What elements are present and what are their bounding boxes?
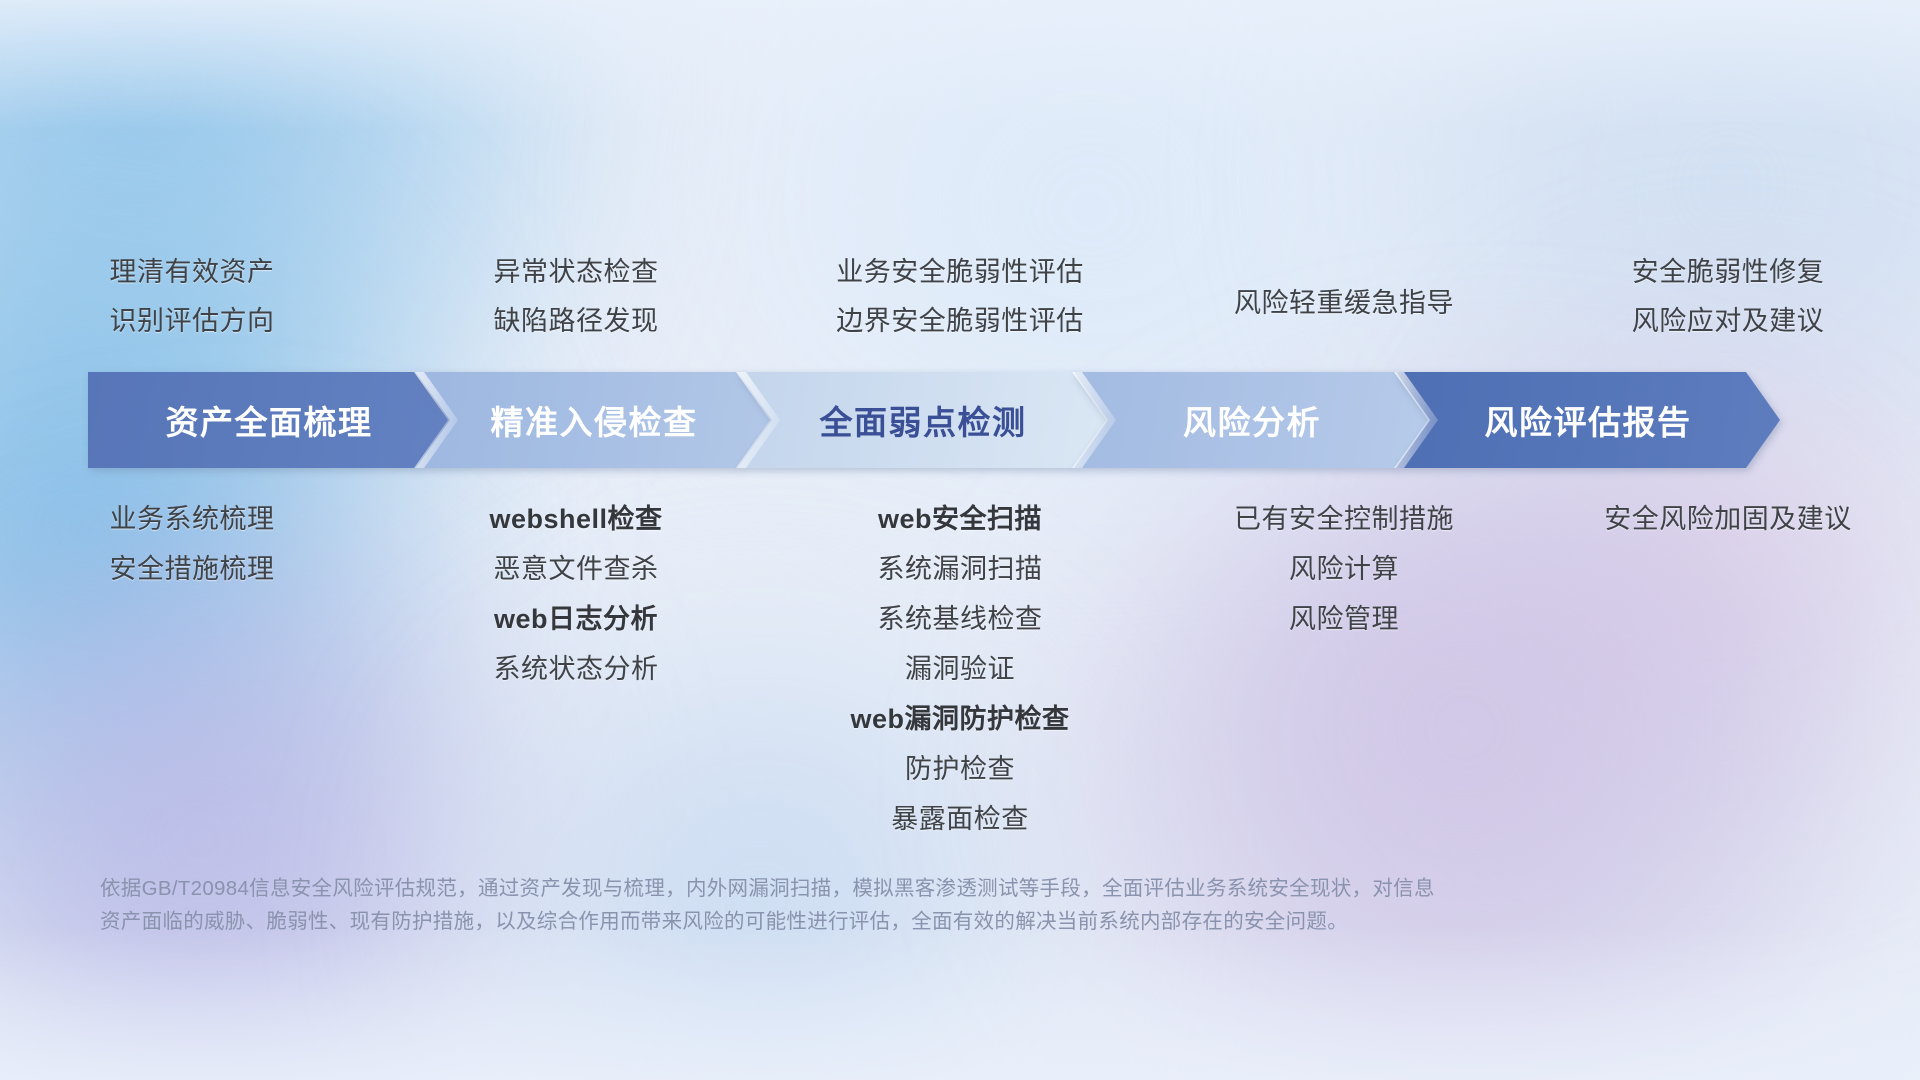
slide-canvas: 理清有效资产 识别评估方向 业务系统梳理 安全措施梳理 异常状态检查 缺陷路径发… [0,0,1920,1080]
list-item: 已有安全控制措施 [1234,503,1454,536]
process-step-risk-analysis[interactable]: 风险分析 [1074,372,1430,468]
process-step-asset-inventory[interactable]: 资产全面梳理 [88,372,450,468]
list-item: 理清有效资产 [110,256,275,289]
footer-line-2: 资产面临的威胁、脆弱性、现有防护措施，以及综合作用而带来风险的可能性进行评估，全… [100,905,1660,938]
process-step-label: 风险分析 [1183,396,1321,444]
step-4-top-list: 风险轻重缓急指导 [1152,287,1536,320]
list-item: 安全措施梳理 [110,553,275,586]
list-item: 安全脆弱性修复 [1632,256,1825,289]
list-item: 风险管理 [1289,603,1399,636]
footer-line-1: 依据GB/T20984信息安全风险评估规范，通过资产发现与梳理，内外网漏洞扫描，… [100,872,1660,905]
list-item: 防护检查 [905,753,1015,786]
step-4-bottom-list: 已有安全控制措施 风险计算 风险管理 [1152,503,1536,636]
list-item: web漏洞防护检查 [850,703,1069,736]
list-item: 识别评估方向 [110,305,275,338]
footer-description: 依据GB/T20984信息安全风险评估规范，通过资产发现与梳理，内外网漏洞扫描，… [100,872,1660,938]
step-5-top-list: 安全脆弱性修复 风险应对及建议 [1536,256,1920,338]
process-chevron-band: 资产全面梳理 精准入侵检查 全面弱点检测 风险分析 风险评估报告 [88,372,1848,468]
process-step-intrusion-check[interactable]: 精准入侵检查 [416,372,772,468]
list-item: 业务安全脆弱性评估 [836,256,1084,289]
step-1-top-list: 理清有效资产 识别评估方向 [0,256,384,338]
list-item: 风险轻重缓急指导 [1234,287,1454,320]
process-step-label: 资产全面梳理 [166,396,373,444]
list-item: 暴露面检查 [891,803,1029,836]
step-2-bottom-list: webshell检查 恶意文件查杀 web日志分析 系统状态分析 [384,503,768,686]
process-step-label: 全面弱点检测 [820,396,1027,444]
list-item: 边界安全脆弱性评估 [836,305,1084,338]
list-item: 缺陷路径发现 [494,305,659,338]
list-item: 异常状态检查 [494,256,659,289]
list-item: 恶意文件查杀 [494,553,659,586]
step-5-bottom-list: 安全风险加固及建议 [1536,503,1920,536]
list-item: web安全扫描 [878,503,1042,536]
list-item: 风险计算 [1289,553,1399,586]
step-3-top-list: 业务安全脆弱性评估 边界安全脆弱性评估 [768,256,1152,338]
process-step-label: 精准入侵检查 [491,396,698,444]
list-item: 安全风险加固及建议 [1604,503,1852,536]
list-item: web日志分析 [494,603,658,636]
list-item: 系统状态分析 [494,653,659,686]
process-step-risk-report[interactable]: 风险评估报告 [1396,372,1780,468]
step-2-top-list: 异常状态检查 缺陷路径发现 [384,256,768,338]
list-item: 系统漏洞扫描 [878,553,1043,586]
process-step-label: 风险评估报告 [1485,396,1692,444]
list-item: webshell检查 [489,503,662,536]
list-item: 漏洞验证 [905,653,1015,686]
list-item: 系统基线检查 [878,603,1043,636]
process-step-weakness-detection[interactable]: 全面弱点检测 [738,372,1108,468]
step-3-bottom-list: web安全扫描 系统漏洞扫描 系统基线检查 漏洞验证 web漏洞防护检查 防护检… [768,503,1152,836]
list-item: 业务系统梳理 [110,503,275,536]
step-1-bottom-list: 业务系统梳理 安全措施梳理 [0,503,384,586]
list-item: 风险应对及建议 [1632,305,1825,338]
